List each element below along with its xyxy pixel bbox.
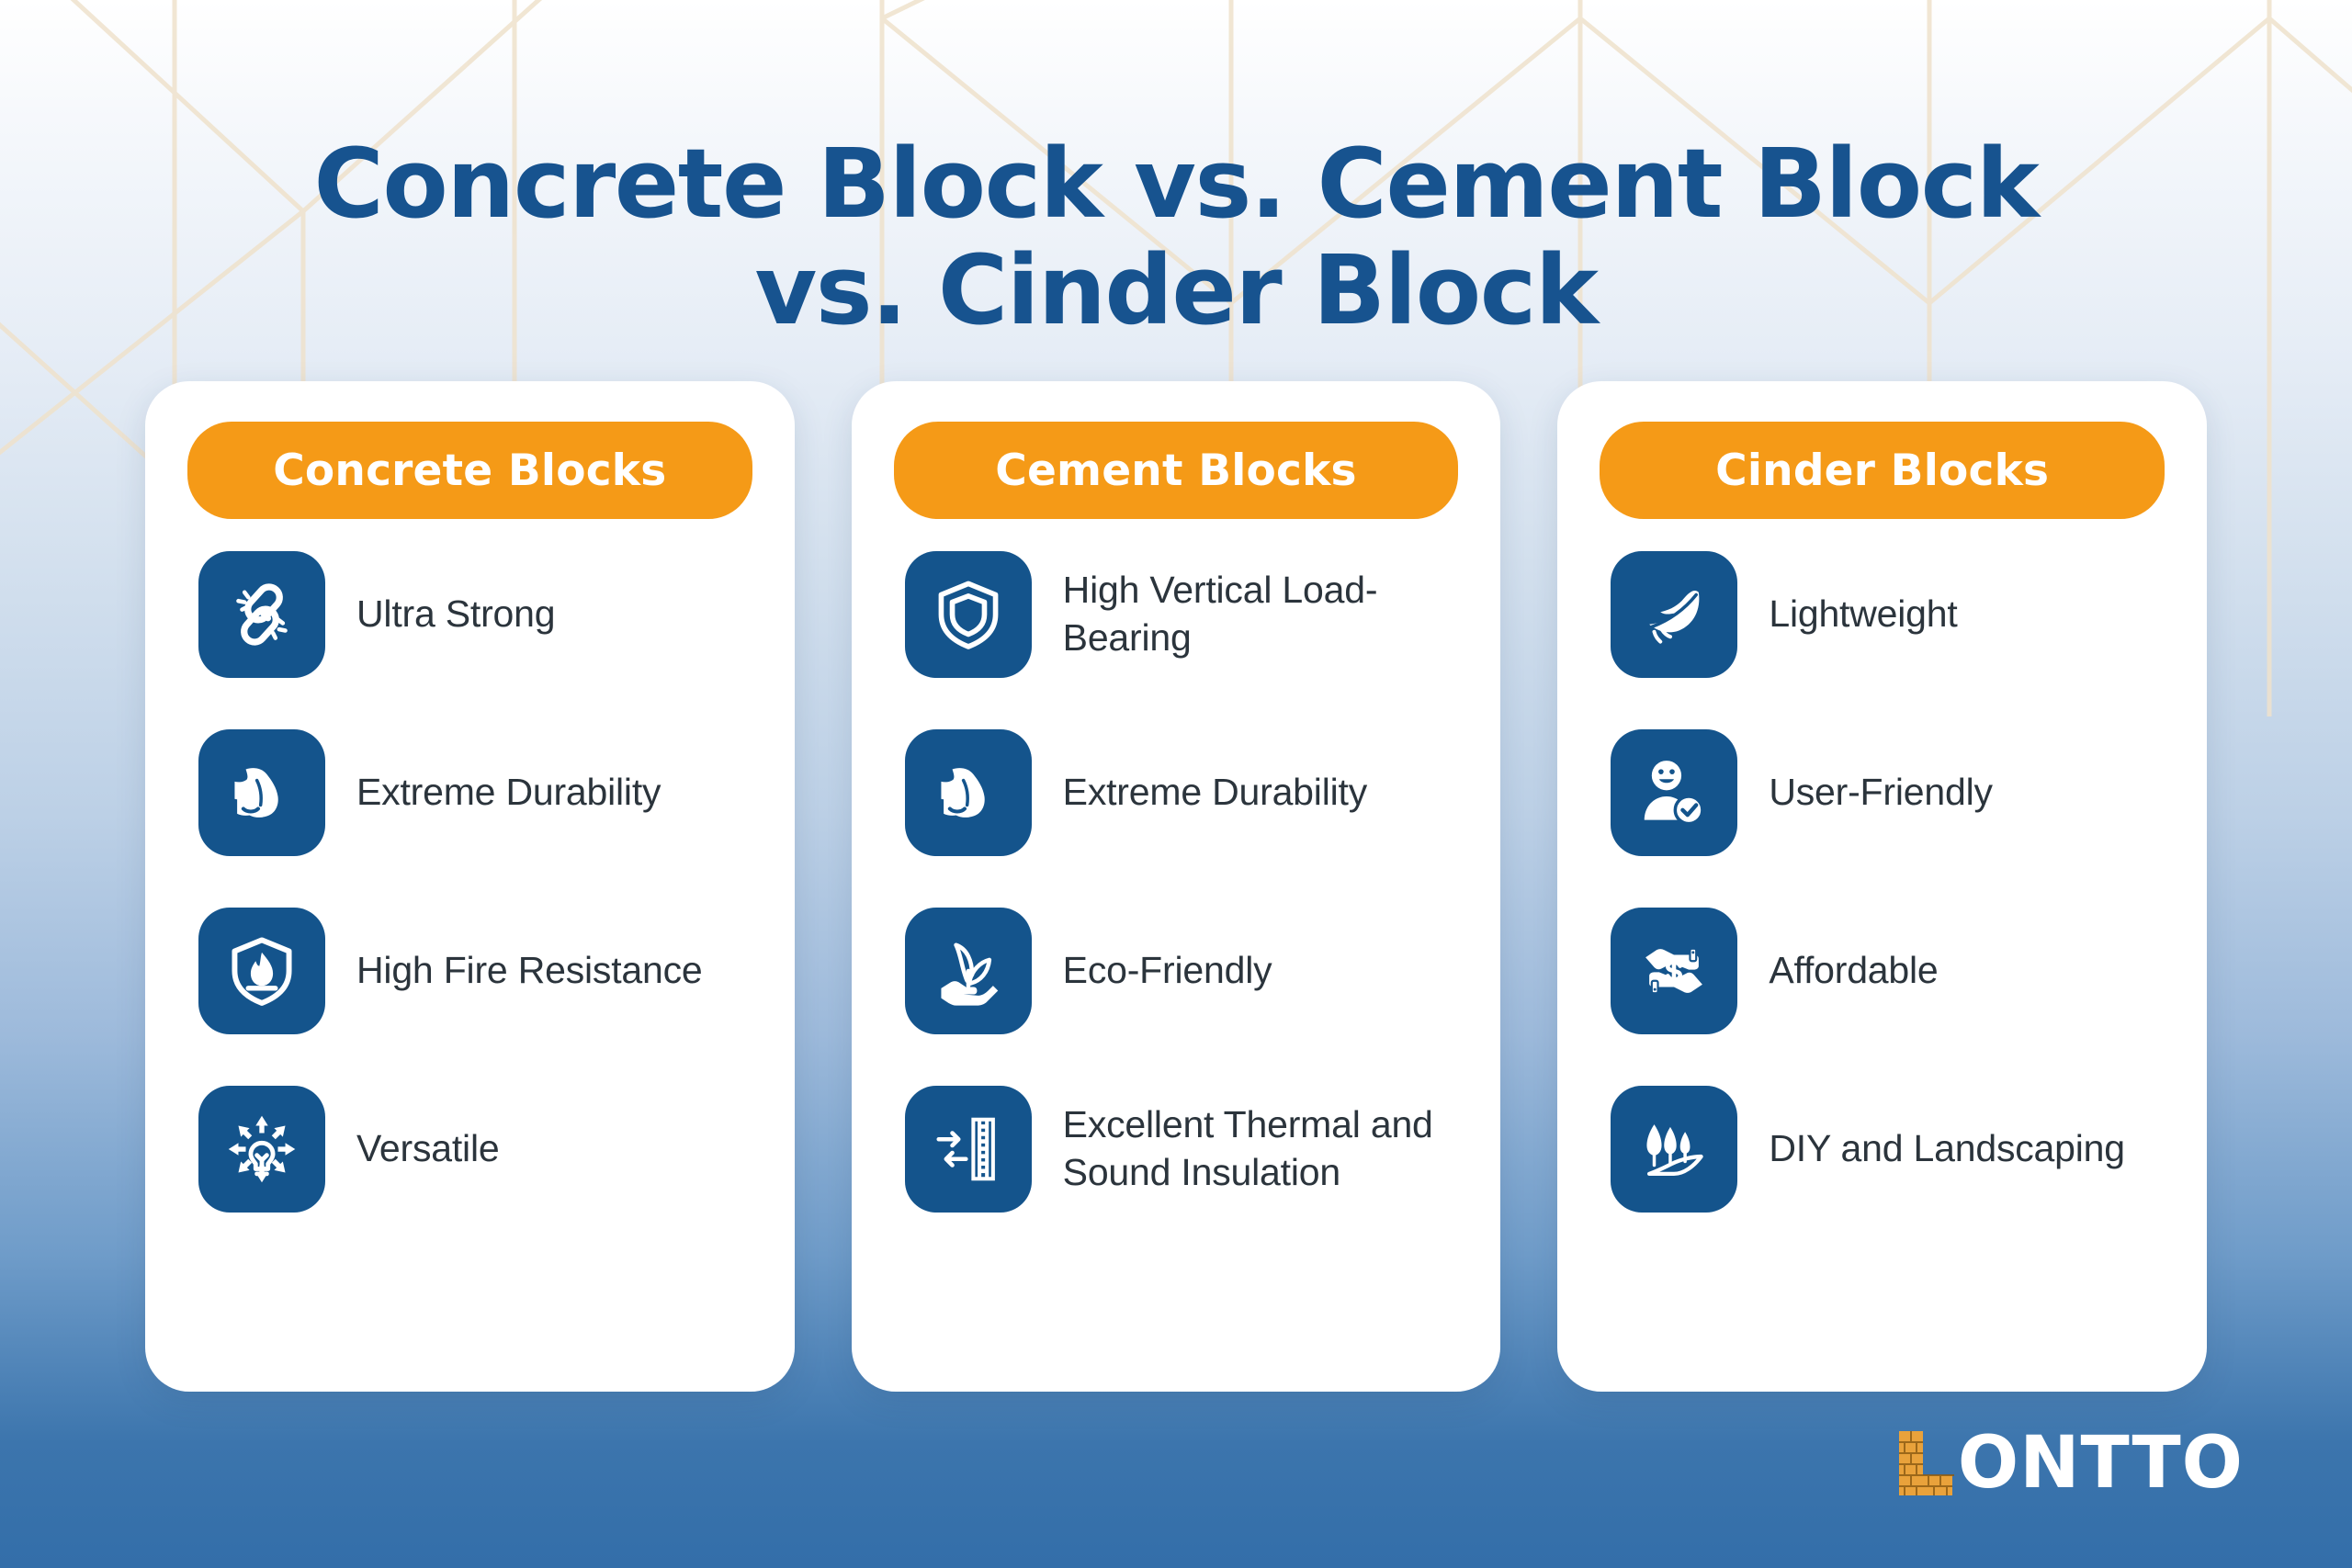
feature-item: High Vertical Load-Bearing xyxy=(905,550,1466,679)
feature-list-cement-blocks: High Vertical Load-Bearing Extreme Durab… xyxy=(879,550,1474,1213)
feature-list-cinder-blocks: Lightweight User-F xyxy=(1585,550,2179,1213)
hands-money-icon xyxy=(1611,908,1737,1034)
feature-label: Ultra Strong xyxy=(356,591,555,638)
insulation-wall-icon xyxy=(905,1086,1032,1213)
card-header-cinder-blocks: Cinder Blocks xyxy=(1600,422,2165,519)
feature-item: Extreme Durability xyxy=(905,728,1466,857)
title-line-2: vs. Cinder Block xyxy=(0,237,2352,344)
feature-item: Ultra Strong xyxy=(198,550,760,679)
hand-sprout-icon xyxy=(905,908,1032,1034)
feature-label: User-Friendly xyxy=(1769,769,1992,817)
card-concrete-blocks: Concrete Blocks xyxy=(145,381,795,1392)
title-line-1: Concrete Block vs. Cement Block xyxy=(314,128,2039,240)
comparison-cards: Concrete Blocks xyxy=(145,381,2207,1392)
page-title: Concrete Block vs. Cement Block vs. Cind… xyxy=(0,130,2352,344)
card-title-label: Cinder Blocks xyxy=(1715,446,2049,496)
card-title-label: Concrete Blocks xyxy=(273,446,666,496)
card-cement-blocks: Cement Blocks High Vertical Load-Bearing xyxy=(852,381,1501,1392)
card-cinder-blocks: Cinder Blocks Lightweight xyxy=(1557,381,2207,1392)
brick-letter-l-icon xyxy=(1897,1429,1954,1497)
trees-lawn-icon xyxy=(1611,1086,1737,1213)
feature-item: Excellent Thermal and Sound Insulation xyxy=(905,1085,1466,1213)
feature-label: Affordable xyxy=(1769,947,1938,995)
shield-flame-icon xyxy=(198,908,325,1034)
feature-label: Versatile xyxy=(356,1125,499,1173)
card-header-concrete-blocks: Concrete Blocks xyxy=(187,422,752,519)
feature-label: Extreme Durability xyxy=(356,769,661,817)
feature-item: Versatile xyxy=(198,1085,760,1213)
feature-label: High Vertical Load-Bearing xyxy=(1063,567,1466,661)
feature-item: DIY and Landscaping xyxy=(1611,1085,2172,1213)
chain-link-icon xyxy=(198,551,325,678)
card-title-label: Cement Blocks xyxy=(995,446,1356,496)
feature-item: Eco-Friendly xyxy=(905,907,1466,1035)
lightbulb-arrows-icon xyxy=(198,1086,325,1213)
feature-label: High Fire Resistance xyxy=(356,947,703,995)
feature-item: Extreme Durability xyxy=(198,728,760,857)
feature-label: Lightweight xyxy=(1769,591,1957,638)
feature-label: Excellent Thermal and Sound Insulation xyxy=(1063,1101,1466,1196)
feature-label: Extreme Durability xyxy=(1063,769,1367,817)
feature-label: Eco-Friendly xyxy=(1063,947,1272,995)
flexed-bicep-icon xyxy=(198,729,325,856)
feature-label: DIY and Landscaping xyxy=(1769,1125,2125,1173)
feature-list-concrete-blocks: Ultra Strong Extreme Durability xyxy=(173,550,767,1213)
shield-icon xyxy=(905,551,1032,678)
flexed-bicep-icon xyxy=(905,729,1032,856)
feature-item: High Fire Resistance xyxy=(198,907,760,1035)
infographic-canvas: Concrete Block vs. Cement Block vs. Cind… xyxy=(0,0,2352,1568)
lontto-logo: ONTTO xyxy=(1897,1427,2244,1499)
user-check-icon xyxy=(1611,729,1737,856)
feature-item: Affordable xyxy=(1611,907,2172,1035)
logo-text: ONTTO xyxy=(1958,1427,2244,1499)
card-header-cement-blocks: Cement Blocks xyxy=(894,422,1459,519)
feather-icon xyxy=(1611,551,1737,678)
feature-item: Lightweight xyxy=(1611,550,2172,679)
feature-item: User-Friendly xyxy=(1611,728,2172,857)
